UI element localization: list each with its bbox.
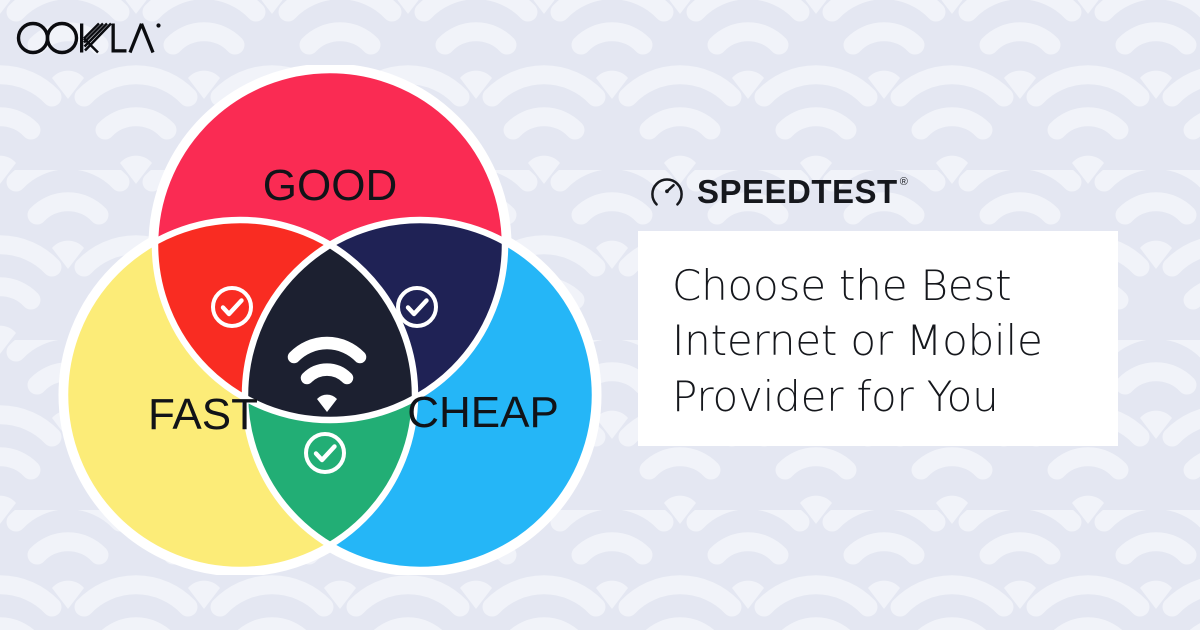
speedtest-logo: SPEEDTEST ® (638, 168, 1120, 214)
speedometer-icon (650, 174, 684, 208)
ookla-letter-o2 (48, 24, 77, 53)
headline-card: Choose the Best Internet or Mobile Provi… (638, 231, 1118, 446)
venn-label-good: GOOD (263, 161, 397, 210)
venn-diagram: GOOD FAST CHEAP (55, 65, 605, 575)
venn-label-fast: FAST (148, 390, 258, 439)
speedtest-wordmark: SPEEDTEST ® (697, 175, 908, 208)
speedtest-registered-mark: ® (900, 177, 909, 188)
right-content-panel: SPEEDTEST ® Choose the Best Internet or … (638, 168, 1120, 446)
speedtest-wordmark-text: SPEEDTEST (697, 175, 898, 208)
ookla-letter-k (80, 24, 111, 53)
ookla-logo (14, 16, 164, 60)
ookla-letter-l (112, 24, 127, 53)
venn-label-cheap: CHEAP (407, 388, 559, 437)
ookla-letter-a (130, 24, 153, 53)
page-title: Choose the Best Internet or Mobile Provi… (672, 258, 1084, 424)
ookla-letter-o1 (19, 24, 48, 53)
ookla-registered-mark (156, 23, 160, 27)
